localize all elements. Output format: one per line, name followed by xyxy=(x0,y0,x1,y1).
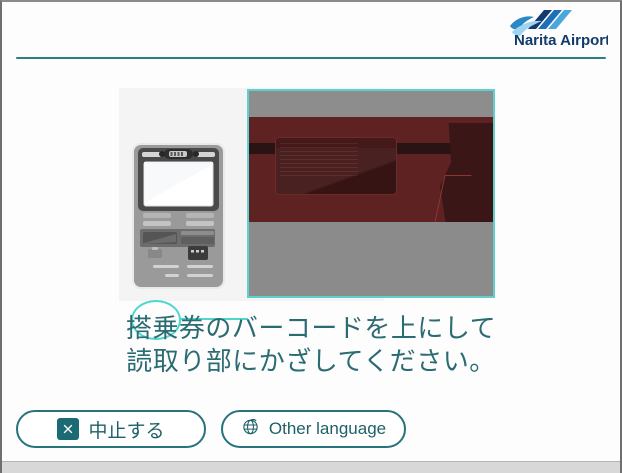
cancel-button[interactable]: 中止する xyxy=(16,410,206,448)
photo-bottom-band xyxy=(249,222,493,296)
instruction-line-2: 読取り部にかざしてください。 xyxy=(2,345,620,378)
page-surface: Narita Airport xyxy=(2,2,620,464)
illustration-stage xyxy=(2,86,622,306)
close-x-icon xyxy=(57,418,79,440)
other-language-button-label: Other language xyxy=(269,419,386,439)
barcode-reader-photo xyxy=(247,89,495,298)
photo-scan-gloss xyxy=(275,148,397,195)
instruction-text: 搭乗券のバーコードを上にして 読取り部にかざしてください。 xyxy=(2,312,620,379)
kiosk-illustration xyxy=(131,143,226,289)
photo-top-band xyxy=(249,91,493,117)
instruction-line-1: 搭乗券のバーコードを上にして xyxy=(2,312,620,345)
page-header: Narita Airport xyxy=(2,2,620,58)
header-divider xyxy=(16,57,606,59)
footer-actions: 中止する Other language xyxy=(16,410,406,448)
other-language-button[interactable]: Other language xyxy=(221,410,406,448)
logo-wordmark: Narita Airport xyxy=(514,32,608,49)
kiosk-screen: Narita Airport xyxy=(0,0,622,473)
cancel-button-label: 中止する xyxy=(88,416,164,443)
globe-icon xyxy=(241,417,260,441)
narita-airport-logo: Narita Airport xyxy=(500,8,608,50)
screen-bottom-strip xyxy=(2,461,620,473)
photo-scanner-window xyxy=(275,137,397,195)
